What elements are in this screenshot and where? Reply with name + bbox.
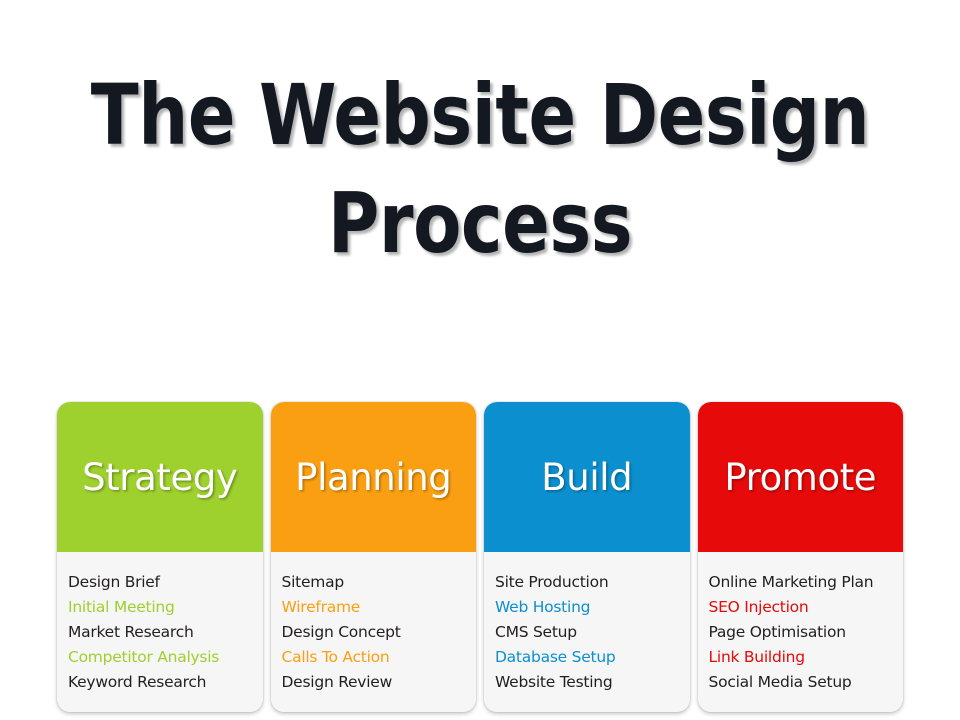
title-block: The Website Design Process (0, 62, 960, 277)
list-item: SEO Injection (709, 595, 904, 620)
list-item: Initial Meeting (68, 595, 263, 620)
list-item: CMS Setup (495, 620, 690, 645)
card-header-promote: Promote (698, 402, 904, 552)
card-item-list: Site ProductionWeb HostingCMS SetupDatab… (495, 570, 690, 695)
process-cards-row: StrategyDesign BriefInitial MeetingMarke… (57, 402, 903, 712)
process-card-build[interactable]: BuildSite ProductionWeb HostingCMS Setup… (484, 402, 690, 712)
card-header-planning: Planning (271, 402, 477, 552)
card-heading: Build (541, 459, 632, 496)
list-item: Social Media Setup (709, 670, 904, 695)
list-item: Site Production (495, 570, 690, 595)
list-item: Competitor Analysis (68, 645, 263, 670)
card-item-list: SitemapWireframeDesign ConceptCalls To A… (282, 570, 477, 695)
list-item: Design Brief (68, 570, 263, 595)
list-item: Online Marketing Plan (709, 570, 904, 595)
card-heading: Strategy (82, 459, 237, 496)
list-item: Market Research (68, 620, 263, 645)
list-item: Sitemap (282, 570, 477, 595)
card-item-list: Design BriefInitial MeetingMarket Resear… (68, 570, 263, 695)
card-body-build: Site ProductionWeb HostingCMS SetupDatab… (484, 552, 690, 712)
list-item: Keyword Research (68, 670, 263, 695)
list-item: Link Building (709, 645, 904, 670)
card-heading: Promote (724, 459, 876, 496)
card-heading: Planning (295, 459, 451, 496)
card-header-build: Build (484, 402, 690, 552)
process-card-promote[interactable]: PromoteOnline Marketing PlanSEO Injectio… (698, 402, 904, 712)
card-body-promote: Online Marketing PlanSEO InjectionPage O… (698, 552, 904, 712)
process-card-strategy[interactable]: StrategyDesign BriefInitial MeetingMarke… (57, 402, 263, 712)
list-item: Website Testing (495, 670, 690, 695)
list-item: Web Hosting (495, 595, 690, 620)
list-item: Page Optimisation (709, 620, 904, 645)
slide-canvas: The Website Design Process StrategyDesig… (0, 0, 960, 720)
card-header-strategy: Strategy (57, 402, 263, 552)
list-item: Design Concept (282, 620, 477, 645)
card-body-planning: SitemapWireframeDesign ConceptCalls To A… (271, 552, 477, 712)
card-body-strategy: Design BriefInitial MeetingMarket Resear… (57, 552, 263, 712)
page-title: The Website Design Process (34, 62, 927, 277)
list-item: Calls To Action (282, 645, 477, 670)
card-item-list: Online Marketing PlanSEO InjectionPage O… (709, 570, 904, 695)
list-item: Design Review (282, 670, 477, 695)
list-item: Database Setup (495, 645, 690, 670)
list-item: Wireframe (282, 595, 477, 620)
process-card-planning[interactable]: PlanningSitemapWireframeDesign ConceptCa… (271, 402, 477, 712)
